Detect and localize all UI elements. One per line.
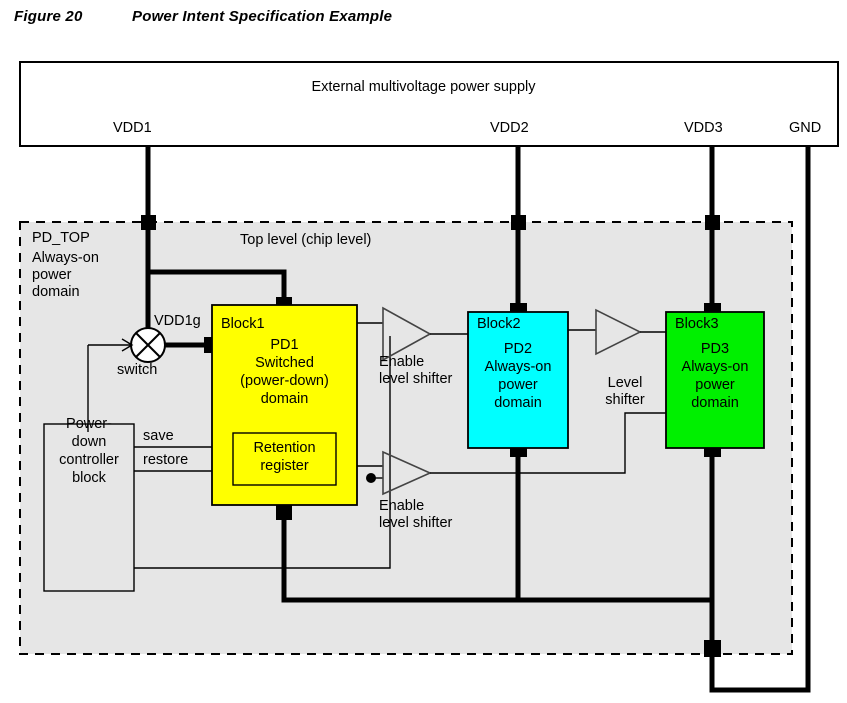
pd-top-description: Always-on power domain	[32, 250, 99, 301]
power-down-controller-label: Power- down controller block	[44, 415, 134, 487]
rail-label-vdd1: VDD1	[113, 120, 152, 137]
block1-body: PD1 Switched (power-down) domain	[212, 336, 357, 408]
level-shifter-label: Level shifter	[600, 375, 650, 409]
rail-label-gnd: GND	[789, 120, 821, 137]
rail-label-vdd3: VDD3	[684, 120, 723, 137]
block1-name: Block1	[221, 315, 265, 333]
vdd3-port-marker	[705, 215, 720, 230]
block3-name: Block3	[675, 315, 719, 333]
rail-label-vdd2: VDD2	[490, 120, 529, 137]
block2-body: PD2 Always-on power domain	[468, 340, 568, 412]
save-label: save	[143, 428, 174, 445]
block3-body: PD3 Always-on power domain	[666, 340, 764, 412]
power-supply-title: External multivoltage power supply	[0, 79, 847, 96]
block1-bottom-ground-port	[276, 504, 292, 520]
restore-label: restore	[143, 452, 188, 469]
switch-label: switch	[117, 362, 157, 379]
vdd1-port-marker	[141, 215, 156, 230]
block2-name: Block2	[477, 315, 521, 333]
top-level-label: Top level (chip level)	[240, 232, 371, 249]
pd-top-name: PD_TOP	[32, 230, 90, 247]
lower-enable-level-shifter-label: Enable level shifter	[379, 498, 452, 532]
vdd1g-net-label: VDD1g	[154, 313, 201, 330]
upper-enable-level-shifter-label: Enable level shifter	[379, 354, 452, 388]
figure-canvas: Figure 20Power Intent Specification Exam…	[0, 0, 847, 703]
vdd2-port-marker	[511, 215, 526, 230]
retention-register-label: Retention register	[233, 439, 336, 475]
